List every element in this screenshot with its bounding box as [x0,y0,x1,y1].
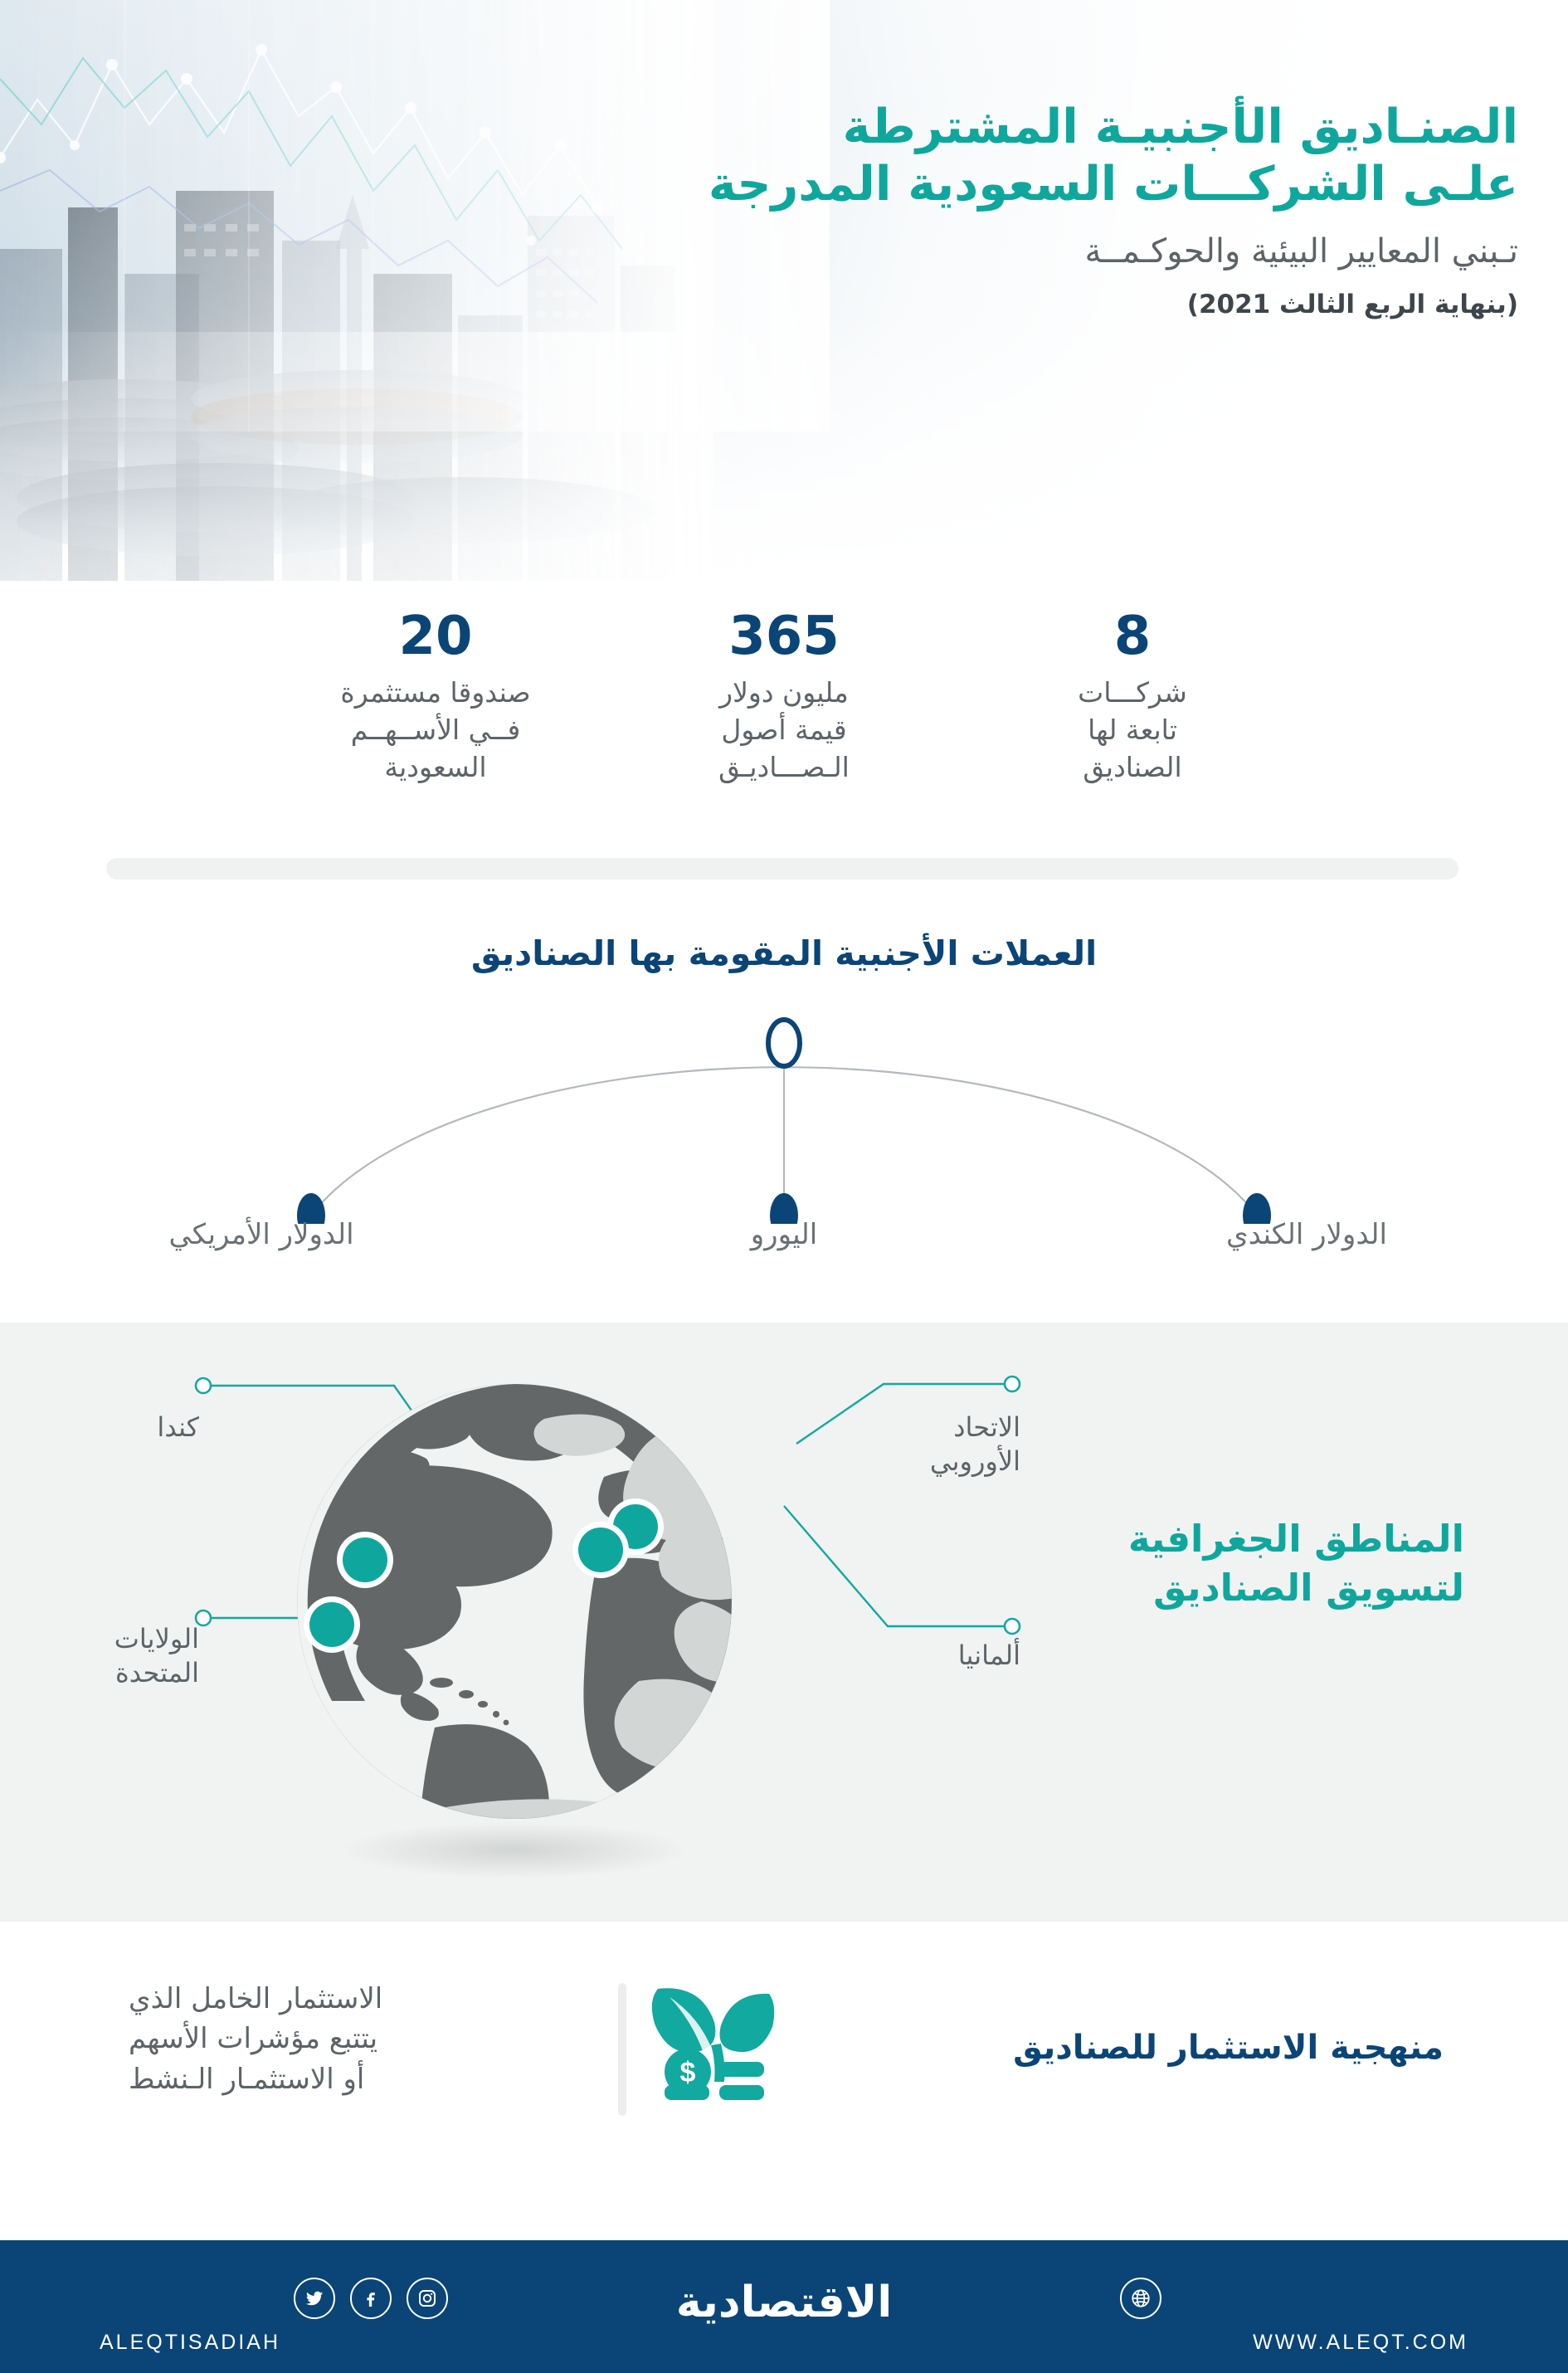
marker-germany [578,1528,623,1572]
hero-title-line1: الصنـاديق الأجنبيـة المشترطة [572,100,1518,155]
hero-title-line2: علـى الشركـــات السعودية المدرجة [572,157,1518,212]
marker-usa [309,1602,354,1647]
footer-url: WWW.ALEQT.COM [1120,2331,1468,2355]
currency-label-eur: اليورو [523,1218,1045,1251]
connector-endpoint-canada [196,1378,211,1393]
methodology-text: الاستثمار الخامل الذي يتتبع مؤشرات الأسه… [129,1979,593,2099]
geo-section-title: المناطق الجغرافية لتسويق الصناديق [1033,1515,1464,1612]
connector-endpoint-eu [1005,1377,1020,1391]
geo-label-usa: الولايات المتحدة [25,1622,199,1690]
hero-text-block: الصنـاديق الأجنبيـة المشترطة علـى الشركـ… [572,100,1518,321]
connector-endpoint-germany [1005,1619,1020,1634]
stat-number: 20 [261,610,610,663]
stat-number: 365 [610,610,958,663]
footer-handle: ALEQTISADIAH [100,2331,448,2355]
infographic-page: الصنـاديق الأجنبيـة المشترطة علـى الشركـ… [0,0,1568,2373]
stat-number: 8 [958,610,1307,663]
stat-card-funds: 20 صندوقا مستثمرة فــي الأســهــم السعود… [261,610,610,787]
stat-label: شركـــات تابعة لها الصناديق [958,675,1307,787]
stat-label: مليون دولار قيمة أصول الـصـــاديـق [610,675,958,787]
stat-card-companies: 8 شركـــات تابعة لها الصناديق [958,610,1307,787]
hero-section: الصنـاديق الأجنبيـة المشترطة علـى الشركـ… [0,0,1568,581]
globe-illustration [249,1352,780,1900]
section-divider [106,858,1458,880]
geo-label-canada: كندا [25,1411,199,1445]
globe-icon[interactable] [1120,2278,1161,2319]
footer-website-block: WWW.ALEQT.COM [1120,2278,1468,2355]
hero-period: (بنهاية الربع الثالث 2021) [572,288,1518,321]
methodology-title: منهجية الاستثمار للصناديق [913,2029,1444,2067]
currencies-title: العملات الأجنبية المقومة بها الصناديق [0,933,1568,973]
svg-text:$: $ [680,2057,696,2088]
currency-label-usd: الدولار الأمريكي [0,1218,523,1251]
stat-label: صندوقا مستثمرة فــي الأســهــم السعودية [261,675,610,787]
plant-money-icon: $ [651,1979,776,2116]
geo-label-germany: ألمانيا [830,1639,1020,1673]
arc-top-node [768,1020,800,1066]
hero-subtitle: تـبني المعايير البيئية والحوكـمــة [572,230,1518,273]
currency-labels-row: الدولار الكندي اليورو الدولار الأمريكي [0,1218,1568,1251]
marker-canada [343,1537,387,1582]
stat-card-assets: 365 مليون دولار قيمة أصول الـصـــاديـق [610,610,958,787]
stats-row: 8 شركـــات تابعة لها الصناديق 365 مليون … [0,610,1568,787]
currency-arc-diagram [286,1008,1282,1224]
globe-icon-wrap [1120,2278,1468,2319]
currency-label-cad: الدولار الكندي [1045,1218,1568,1251]
geo-label-eu: الاتحاد الأوروبي [830,1411,1020,1479]
methodology-separator [618,1983,626,2116]
